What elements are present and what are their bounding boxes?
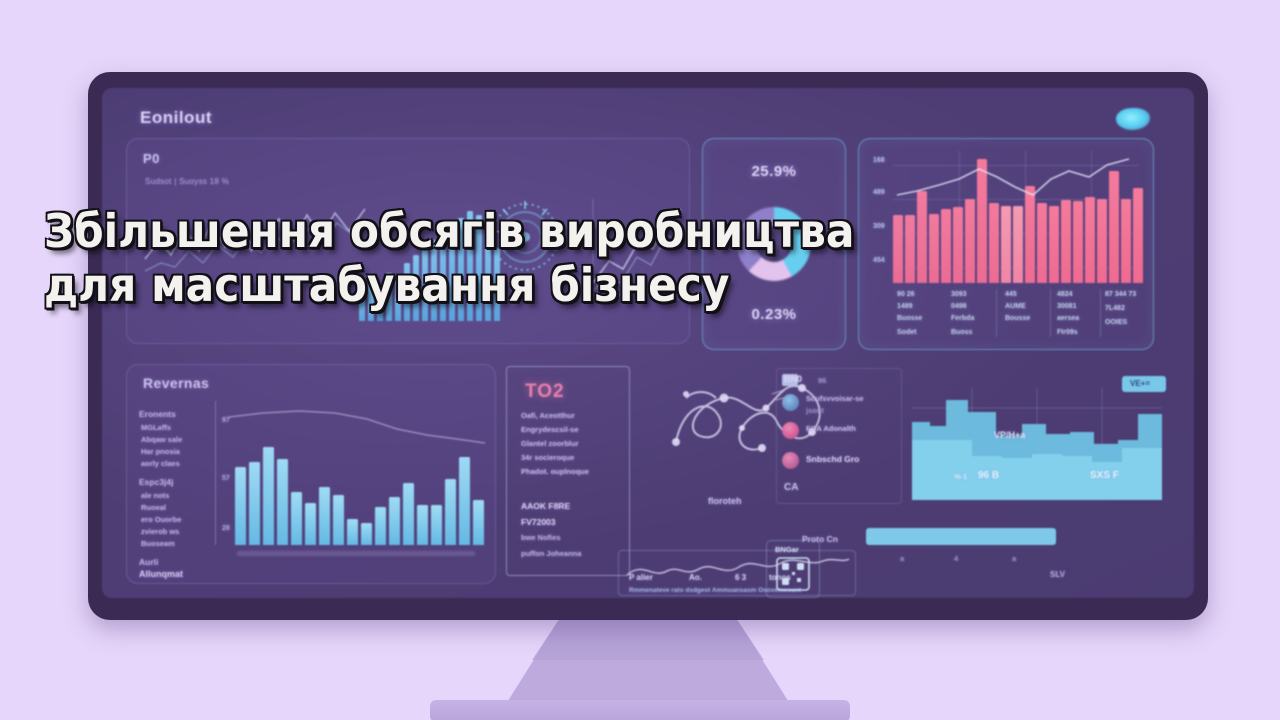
bar [319,487,330,545]
bar [305,503,316,545]
legend-group-head: Espc3j4j [139,477,174,487]
monitor-stand-base [430,700,850,720]
progress-tick: 4 [954,554,958,563]
insights-card: TO2 Oafi, Aceotthur Engrydescsil-se Glan… [506,366,630,576]
bar [347,519,358,545]
monitor-frame: Eonilout P0 Sudsot | Suoyss 18 % [88,72,1208,620]
wave-label: P alier [629,573,653,582]
insights-heading: TO2 [525,381,565,403]
qr-code-icon [776,557,810,591]
headline-line-1: Збільшення обсягів виробництва [44,204,780,258]
insights-footer-line: AAOK F8RE [521,501,570,511]
letters-icon: CA [784,482,798,493]
wave-label: Ao. [689,573,702,582]
insights-footer-line: FV72003 [521,517,556,527]
qr-label: BNGar [775,545,799,554]
legend-label: FOA Adonalth [806,424,856,433]
legend-label: Scufsvvoisar-se [806,394,864,403]
metrics-pill-button[interactable]: VE+= [1122,376,1166,392]
progress-bar[interactable] [866,528,1056,545]
avatar-icon [782,394,799,411]
revenues-title: Revernas [143,375,209,391]
bar [403,483,414,545]
insights-body-line: Glantel zoorblur [521,439,579,448]
y-tick: 309 [873,223,885,230]
chart-inline-label: %-1 [954,472,967,481]
legend-value: jsont [806,406,824,415]
bar [417,505,428,545]
wave-card: P alier Ao. 6 3 tonos Rmmenateve rato ds… [618,550,856,596]
legend-label: BN0 [784,374,802,384]
legend-item: Har pnosia [141,447,180,456]
pink-circle-icon [782,452,799,469]
legend-value: 96 [818,376,826,385]
network-caption: floroteh [708,496,742,506]
chart-note: VP/H+a [994,430,1025,440]
volume-trend-line [893,151,1143,271]
bar [445,479,456,545]
kpi-value-top: 25.9% [703,163,845,180]
legend-item: Abqaw sale [141,435,182,444]
progress-tick: a [900,554,904,563]
pill-label: VE+= [1130,379,1150,388]
volume-panel: 168 489 309 454 [858,138,1154,350]
legend-item: ero Ouorbe [141,515,181,524]
y-tick: 489 [873,189,885,196]
insights-footer-line: puffon Joheanna [521,549,581,558]
bar [375,507,386,545]
legend-item: zvierob ws [141,527,179,536]
y-tick: 168 [873,157,885,164]
bar [389,497,400,545]
wave-label: 6 3 [735,573,746,582]
revenues-overlay-line [227,401,487,471]
metrics-area-chart [912,388,1162,500]
progress-tick: a [1012,554,1016,563]
insights-footer-line: bwe Nofies [521,533,561,542]
profile-blob-icon[interactable] [1116,108,1150,130]
magenta-circle-icon [782,422,799,439]
bar [473,500,484,545]
insights-body-line: Engrydescsil-se [521,425,579,434]
legend-item: Ruoeal [141,503,166,512]
qr-card[interactable]: BNGar [766,540,820,598]
bar [333,495,344,545]
insights-body-line: Phadot. ouplnoque [521,467,589,476]
legend-item: MGLaffs [141,423,171,432]
bar [291,492,302,545]
dashboard-title: Eonilout [140,108,212,128]
chart-inline-label: SXS F [1090,470,1119,481]
corner-label: SLV [1050,570,1065,579]
legend-group-head: Eronents [139,409,176,419]
insights-body-line: 34r socieroque [521,453,574,462]
y-tick: 454 [873,257,885,264]
legend-item: Buoseam [141,539,175,548]
insights-body-line: Oafi, Aceotthur [521,411,575,420]
overview-card-subtitle: Sudsot | Suoyss 18 % [145,177,229,186]
dashboard-screen: Eonilout P0 Sudsot | Suoyss 18 % [102,88,1194,598]
headline-line-2: для масштабування бізнесу [44,258,780,312]
revenues-footer-line1: Aurli [139,557,158,567]
bar [235,467,246,545]
bar [431,505,442,545]
headline-overlay: Збільшення обсягів виробництва для масшт… [44,204,780,313]
bar [361,523,372,545]
bar [277,459,288,545]
legend-item: ale nots [141,491,169,500]
legend-label: Snbschd Gro [806,454,859,464]
bar [249,462,260,545]
revenues-footer-line2: Allunqmat [139,569,183,579]
revenues-panel: Revernas Eronents MGLaffs Abqaw sale Har… [126,364,496,584]
overview-card-label: P0 [143,151,160,166]
legend-item: aorly claes [141,459,180,468]
chart-inline-label: 96 B [978,470,999,481]
